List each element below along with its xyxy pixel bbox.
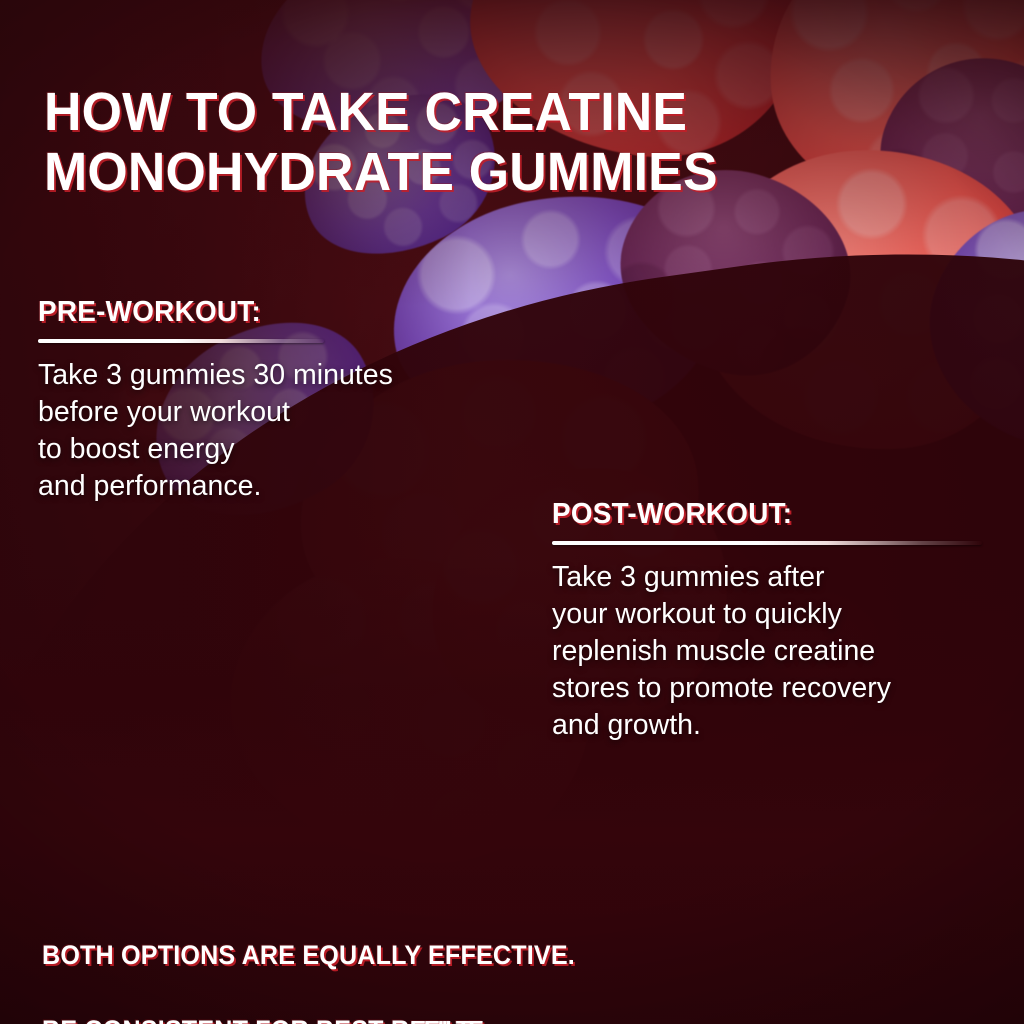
pre-workout-underline (38, 339, 324, 343)
post-workout-underline (552, 541, 982, 545)
section-pre-workout: PRE-WORKOUT: Take 3 gummies 30 minutes b… (38, 296, 558, 505)
poster-content: HOW TO TAKE CREATINE MONOHYDRATE GUMMIES… (0, 0, 1024, 1024)
post-workout-title: POST-WORKOUT: (552, 498, 994, 531)
footer-line-1: BOTH OPTIONS ARE EQUALLY EFFECTIVE. (42, 937, 879, 974)
pre-workout-title: PRE-WORKOUT: (38, 296, 537, 329)
post-workout-body: Take 3 gummies after your workout to qui… (552, 559, 1012, 744)
poster-canvas: HOW TO TAKE CREATINE MONOHYDRATE GUMMIES… (0, 0, 1024, 1024)
page-title: HOW TO TAKE CREATINE MONOHYDRATE GUMMIES (44, 83, 870, 203)
footer-line-2: BE CONSISTENT FOR BEST REEI'LTF (42, 1012, 879, 1024)
pre-workout-body: Take 3 gummies 30 minutes before your wo… (38, 357, 558, 505)
footer-note: BOTH OPTIONS ARE EQUALLY EFFECTIVE. BE C… (42, 900, 879, 1024)
footer-line-2-prefix: BE CONSISTENT FOR BEST R (42, 1015, 409, 1024)
footer-glitch-text: EEI'LTF (409, 1013, 481, 1024)
section-post-workout: POST-WORKOUT: Take 3 gummies after your … (552, 498, 1012, 744)
